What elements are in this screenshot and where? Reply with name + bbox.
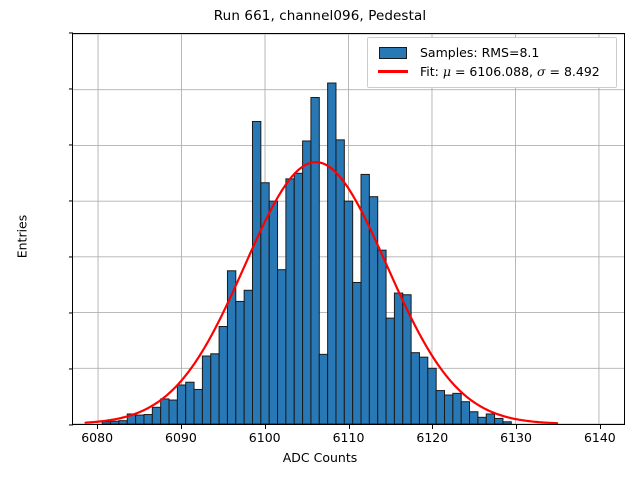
x-tick-mark (349, 425, 350, 429)
legend-patch-icon (375, 47, 411, 59)
x-tick-label: 6140 (555, 430, 640, 445)
plot-area (72, 33, 625, 425)
x-tick-mark (97, 425, 98, 429)
legend-mu-symbol: μ (443, 64, 451, 79)
x-axis-label: ADC Counts (0, 450, 640, 465)
legend-sigma-value: = 8.492 (546, 64, 600, 79)
x-tick-mark (265, 425, 266, 429)
legend-mu-value: = 6106.088, (451, 64, 537, 79)
legend-item-samples: Samples: RMS=8.1 (375, 43, 609, 62)
legend-box: Samples: RMS=8.1 Fit: μ = 6106.088, σ = … (367, 37, 617, 88)
legend-label-samples: Samples: RMS=8.1 (420, 45, 539, 60)
x-tick-label: 6090 (136, 430, 226, 445)
x-tick-mark (600, 425, 601, 429)
legend-label-fit: Fit: μ = 6106.088, σ = 8.492 (420, 64, 600, 79)
legend-sigma-symbol: σ (537, 64, 546, 79)
x-tick-mark (181, 425, 182, 429)
x-tick-label: 6100 (220, 430, 310, 445)
legend-item-fit: Fit: μ = 6106.088, σ = 8.492 (375, 62, 609, 81)
y-axis-label: Entries (15, 147, 30, 327)
x-tick-mark (516, 425, 517, 429)
x-tick-mark (432, 425, 433, 429)
chart-title: Run 661, channel096, Pedestal (0, 8, 640, 24)
legend-fit-prefix: Fit: (420, 64, 443, 79)
legend-line-icon (375, 70, 411, 72)
figure-canvas: Run 661, channel096, Pedestal Entries AD… (0, 0, 640, 480)
x-tick-label: 6120 (387, 430, 477, 445)
gaussian-fit-curve (73, 34, 624, 424)
x-tick-label: 6110 (304, 430, 394, 445)
fit-polyline (86, 162, 558, 423)
x-tick-label: 6130 (471, 430, 561, 445)
x-tick-label: 6080 (52, 430, 142, 445)
